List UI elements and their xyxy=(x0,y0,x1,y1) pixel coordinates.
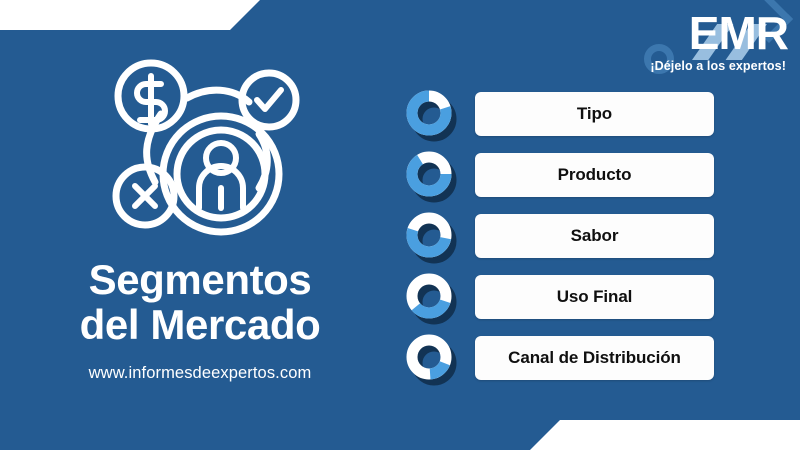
page-title-line-1: Segmentos xyxy=(0,258,400,303)
progress-ring-icon xyxy=(404,149,460,205)
logo-tagline: ¡Déjelo a los expertos! xyxy=(650,59,786,73)
segment-pill[interactable]: Producto xyxy=(475,153,714,197)
bottom-right-ribbon-decoration xyxy=(530,420,800,450)
page-title-line-2: del Mercado xyxy=(0,303,400,348)
progress-ring-icon xyxy=(404,332,460,388)
cross-node xyxy=(135,186,155,206)
segment-pill[interactable]: Sabor xyxy=(475,214,714,258)
site-url: www.informesdeexpertos.com xyxy=(0,364,400,383)
segment-pill[interactable]: Canal de Distribución xyxy=(475,336,714,380)
top-left-ribbon-decoration xyxy=(0,0,260,30)
list-item[interactable]: Uso Final xyxy=(404,269,724,330)
emr-logo: EMR ¡Déjelo a los expertos! xyxy=(638,6,788,78)
segment-label: Canal de Distribución xyxy=(508,348,681,368)
list-item[interactable]: Tipo xyxy=(404,86,724,147)
segment-label: Uso Final xyxy=(557,287,633,307)
logo-wordmark: EMR xyxy=(689,10,788,56)
progress-ring-icon xyxy=(404,88,460,144)
list-item[interactable]: Producto xyxy=(404,147,724,208)
segment-pill[interactable]: Tipo xyxy=(475,92,714,136)
segment-pill[interactable]: Uso Final xyxy=(475,275,714,319)
segment-label: Tipo xyxy=(577,104,612,124)
list-item[interactable]: Canal de Distribución xyxy=(404,330,724,391)
left-column: Segmentos del Mercado www.informesdeexpe… xyxy=(0,48,400,383)
market-segments-network-icon xyxy=(91,48,309,244)
segment-label: Producto xyxy=(558,165,632,185)
check-node xyxy=(257,90,281,109)
person-node xyxy=(199,143,243,208)
infographic-canvas: EMR ¡Déjelo a los expertos! xyxy=(0,0,800,450)
segment-list: Tipo Producto Sabor xyxy=(404,86,724,391)
list-item[interactable]: Sabor xyxy=(404,208,724,269)
page-title: Segmentos del Mercado xyxy=(0,258,400,348)
segment-label: Sabor xyxy=(571,226,619,246)
progress-ring-icon xyxy=(404,210,460,266)
progress-ring-icon xyxy=(404,271,460,327)
dollar-node xyxy=(137,76,165,124)
